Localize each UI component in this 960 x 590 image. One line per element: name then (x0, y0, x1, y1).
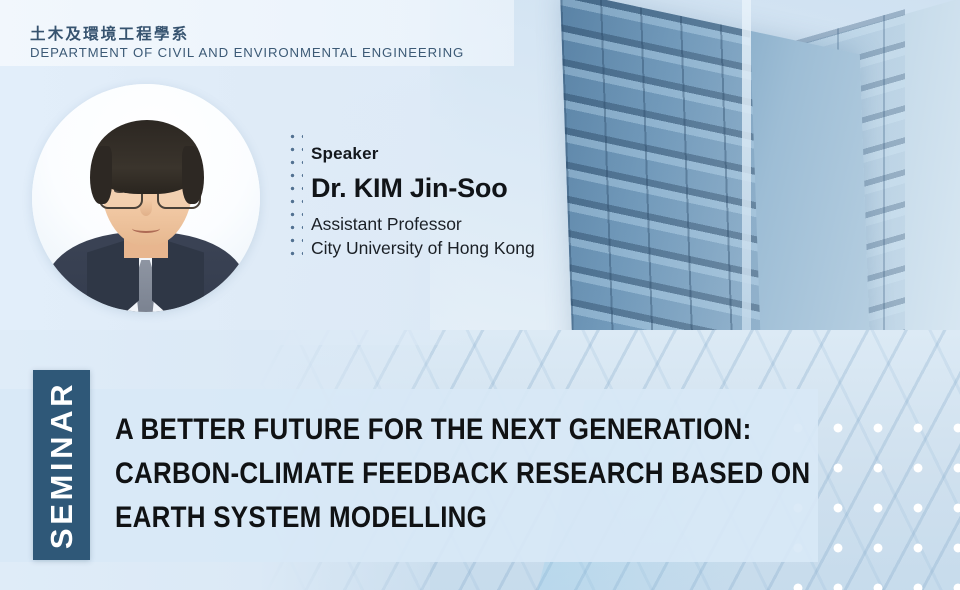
seminar-poster: 土木及環境工程學系 DEPARTMENT OF CIVIL AND ENVIRO… (0, 0, 960, 590)
speaker-name: Dr. KIM Jin-Soo (311, 173, 508, 204)
portrait-mouth (132, 224, 160, 233)
department-name-english: DEPARTMENT OF CIVIL AND ENVIRONMENTAL EN… (30, 45, 464, 60)
speaker-position: Assistant Professor (311, 214, 462, 235)
department-name-chinese: 土木及環境工程學系 (30, 22, 189, 44)
seminar-title-line-3: EARTH SYSTEM MODELLING (115, 496, 696, 540)
dotted-divider (287, 130, 303, 262)
seminar-title-line-1: A BETTER FUTURE FOR THE NEXT GENERATION: (115, 408, 696, 452)
speaker-portrait (32, 84, 260, 312)
seminar-badge-label: SEMINAR (44, 381, 80, 549)
seminar-title-line-2: CARBON-CLIMATE FEEDBACK RESEARCH BASED O… (115, 452, 696, 496)
speaker-label: Speaker (311, 144, 379, 164)
seminar-badge: SEMINAR (33, 370, 90, 560)
seminar-title: A BETTER FUTURE FOR THE NEXT GENERATION:… (115, 408, 775, 540)
department-banner: 土木及環境工程學系 DEPARTMENT OF CIVIL AND ENVIRO… (0, 0, 514, 66)
portrait-hair-side-left (90, 146, 112, 204)
speaker-organization: City University of Hong Kong (311, 238, 535, 259)
